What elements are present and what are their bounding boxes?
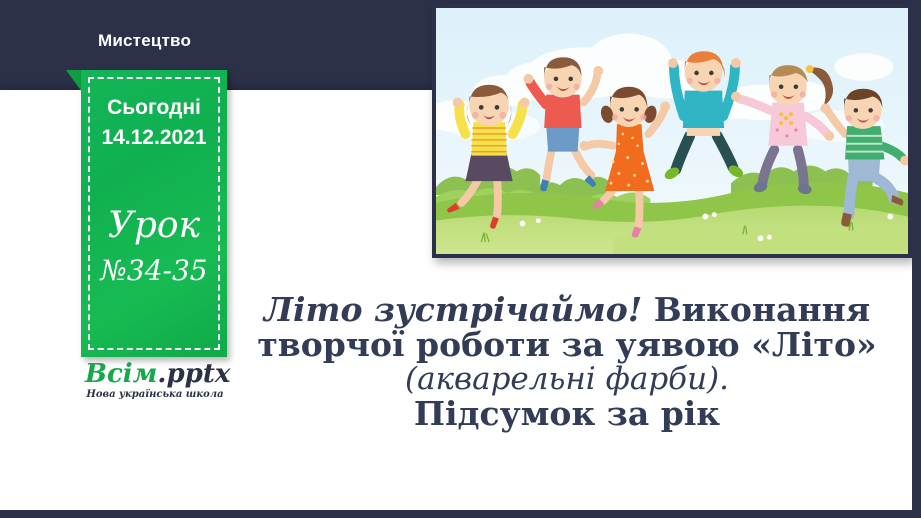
- slide: Мистецтво Сьогодні 14.12.2021 Урок №34-3…: [0, 0, 921, 518]
- brand-logo-suffix: .pptx: [157, 359, 230, 389]
- kids-jumping-illustration: [436, 8, 908, 254]
- date-card-date: 14.12.2021: [81, 126, 227, 150]
- brand-logo-subtitle: Нова українська школа: [85, 389, 225, 400]
- brand-logo-name: Всім.pptx: [85, 361, 225, 388]
- lesson-title-line-1: Літо зустрічаймо! Виконання: [228, 292, 906, 327]
- date-card-today-label: Сьогодні: [81, 96, 227, 120]
- lesson-title-emphasis: Літо зустрічаймо!: [264, 290, 642, 329]
- page-title: Мистецтво: [98, 31, 191, 51]
- brand-logo: Всім.pptx Нова українська школа: [85, 361, 225, 400]
- illustration-frame: [432, 4, 912, 258]
- illustration: [436, 8, 908, 254]
- date-card-lesson-word: Урок: [81, 205, 227, 246]
- panel-right-edge: [912, 0, 921, 518]
- panel-bottom-edge: [0, 510, 921, 518]
- lesson-title-line-3: (акварельні фарби).: [228, 363, 906, 396]
- brand-logo-accent: Всім: [85, 359, 157, 389]
- lesson-title-line-2: творчої роботи за уявою «Літо»: [228, 327, 906, 362]
- date-card-lesson-number: №34-35: [81, 254, 227, 287]
- lesson-title: Літо зустрічаймо! Виконання творчої робо…: [228, 292, 906, 431]
- date-card: Сьогодні 14.12.2021 Урок №34-35: [81, 70, 227, 357]
- card-fold-decoration: [66, 70, 82, 92]
- lesson-title-line-1-rest: Виконання: [642, 290, 870, 329]
- lesson-title-line-4: Підсумок за рік: [228, 396, 906, 431]
